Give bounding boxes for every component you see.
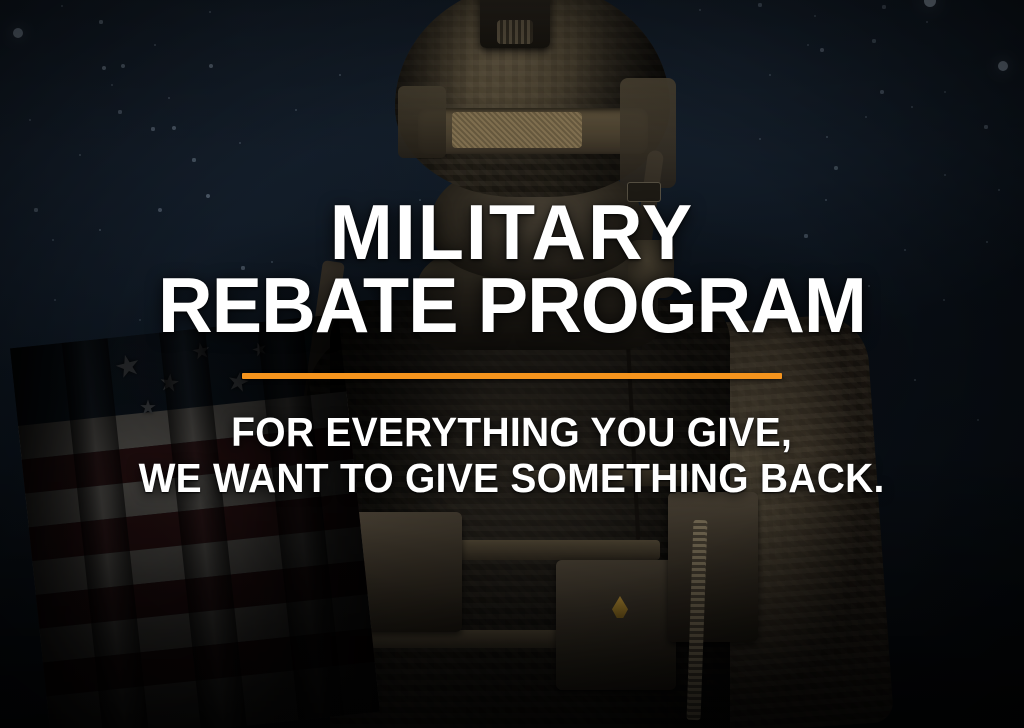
headline-line-2: REBATE PROGRAM xyxy=(158,269,866,342)
banner-content: MILITARY REBATE PROGRAM FOR EVERYTHING Y… xyxy=(0,0,1024,728)
banner-headline: MILITARY REBATE PROGRAM xyxy=(158,196,866,343)
orange-divider xyxy=(242,373,782,379)
subheading-line-1: FOR EVERYTHING YOU GIVE, xyxy=(139,410,885,456)
banner-subheading: FOR EVERYTHING YOU GIVE, WE WANT TO GIVE… xyxy=(139,410,885,502)
subheading-line-2: WE WANT TO GIVE SOMETHING BACK. xyxy=(139,456,885,502)
military-rebate-banner: ★★★★★★ MILITARY REBATE PROGRAM FOR EVERY… xyxy=(0,0,1024,728)
headline-line-1: MILITARY xyxy=(158,196,866,269)
